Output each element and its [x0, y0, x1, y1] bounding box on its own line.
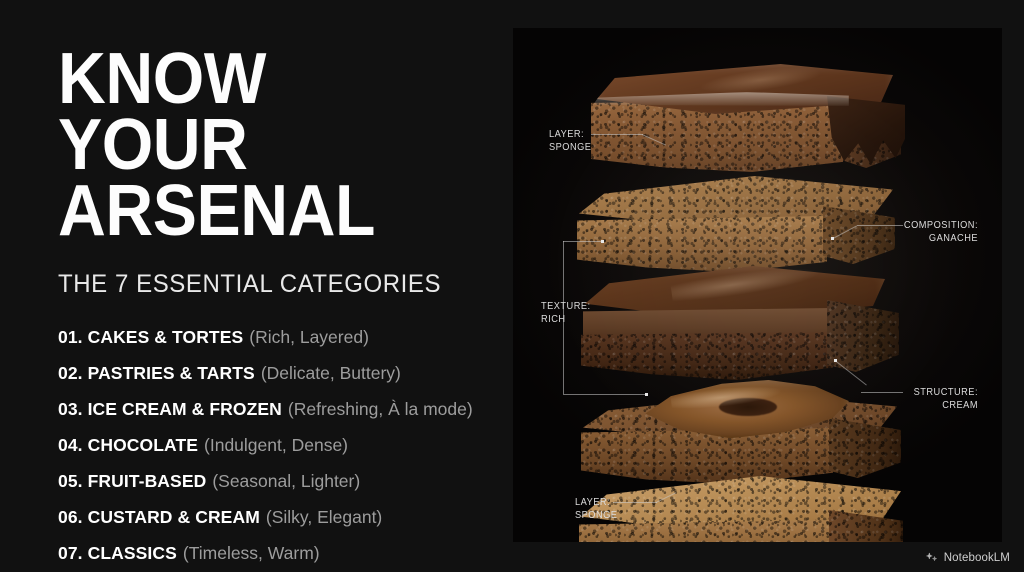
list-item: 04. CHOCOLATE (Indulgent, Dense) [58, 437, 498, 455]
list-item: 03. ICE CREAM & FROZEN (Refreshing, À la… [58, 401, 498, 419]
cake-layer-1 [591, 62, 901, 182]
category-label: 07. CLASSICS [58, 545, 177, 563]
cake-layer-3 [575, 266, 905, 390]
list-item: 07. CLASSICS (Timeless, Warm) [58, 545, 498, 563]
callout-composition-ganache: COMPOSITION: GANACHE [881, 219, 978, 246]
category-label: 05. FRUIT-BASED [58, 473, 206, 491]
category-label: 04. CHOCOLATE [58, 437, 198, 455]
list-item: 02. PASTRIES & TARTS (Delicate, Buttery) [58, 365, 498, 383]
list-item: 06. CUSTARD & CREAM (Silky, Elegant) [58, 509, 498, 527]
notebooklm-spark-icon [926, 551, 939, 564]
page-subtitle: THE 7 ESSENTIAL CATEGORIES [58, 270, 480, 299]
category-list: 01. CAKES & TORTES (Rich, Layered) 02. P… [58, 329, 498, 563]
category-label: 01. CAKES & TORTES [58, 329, 243, 347]
list-item: 01. CAKES & TORTES (Rich, Layered) [58, 329, 498, 347]
text-column: KNOW YOUR ARSENAL THE 7 ESSENTIAL CATEGO… [58, 46, 498, 572]
callout-layer-sponge-bottom: LAYER: SPONGE [575, 496, 637, 523]
category-descriptor: (Silky, Elegant) [266, 509, 382, 527]
callout-layer-sponge-top: LAYER: SPONGE [549, 128, 611, 155]
watermark-label: NotebookLM [944, 552, 1010, 564]
category-descriptor: (Delicate, Buttery) [261, 365, 401, 383]
callout-structure-cream: STRUCTURE: CREAM [886, 386, 978, 413]
category-descriptor: (Rich, Layered) [249, 329, 369, 347]
list-item: 05. FRUIT-BASED (Seasonal, Lighter) [58, 473, 498, 491]
category-descriptor: (Timeless, Warm) [183, 545, 320, 563]
slide-canvas: KNOW YOUR ARSENAL THE 7 ESSENTIAL CATEGO… [0, 0, 1024, 572]
category-label: 03. ICE CREAM & FROZEN [58, 401, 282, 419]
category-label: 06. CUSTARD & CREAM [58, 509, 260, 527]
page-title: KNOW YOUR ARSENAL [58, 46, 463, 245]
category-descriptor: (Indulgent, Dense) [204, 437, 348, 455]
category-descriptor: (Seasonal, Lighter) [212, 473, 360, 491]
notebooklm-watermark: NotebookLM [926, 551, 1010, 564]
callout-texture-rich: TEXTURE: RICH [541, 300, 603, 327]
category-label: 02. PASTRIES & TARTS [58, 365, 255, 383]
category-descriptor: (Refreshing, À la mode) [288, 401, 473, 419]
cake-photo-panel: LAYER: SPONGE COMPOSITION: GANACHE TEXTU… [513, 28, 1002, 542]
